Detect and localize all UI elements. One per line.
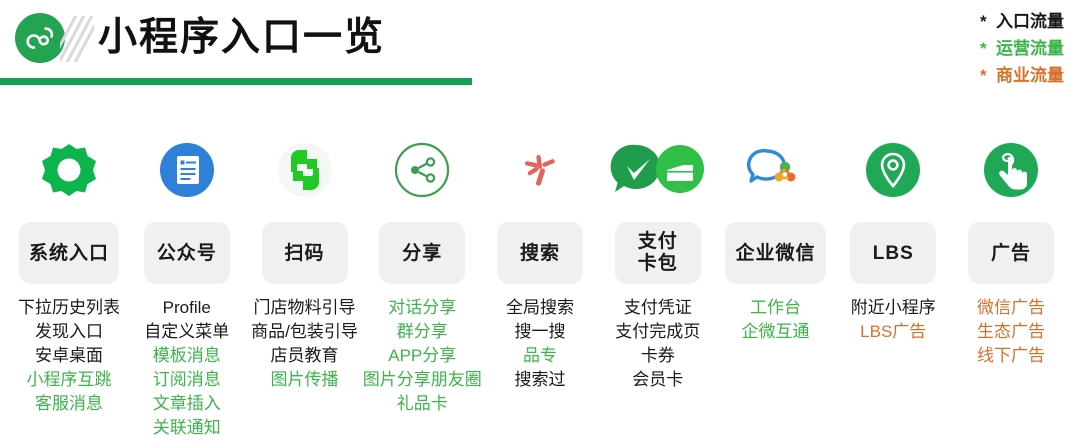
list-item: 店员教育 xyxy=(251,344,358,368)
list-item: 品专 xyxy=(506,344,574,368)
column-label-chip-search[interactable]: 搜索 xyxy=(497,222,583,284)
title-underline-rule xyxy=(0,78,472,85)
list-item: 微信广告 xyxy=(977,296,1045,320)
list-item: 图片传播 xyxy=(251,368,358,392)
list-item: 线下广告 xyxy=(977,344,1045,368)
article-document-icon xyxy=(132,132,242,208)
list-item: 全局搜索 xyxy=(506,296,574,320)
list-item: 卡券 xyxy=(615,344,700,368)
list-item: 支付完成页 xyxy=(615,320,700,344)
list-item: APP分享 xyxy=(363,344,482,368)
list-item: 订阅消息 xyxy=(144,368,229,392)
entry-column-wecom: 企业微信工作台企微互通 xyxy=(721,132,831,440)
column-item-list-wecom: 工作台企微互通 xyxy=(742,296,810,344)
legend-item-business: * 商业流量 xyxy=(980,62,1064,89)
list-item: 工作台 xyxy=(742,296,810,320)
entry-column-lbs: LBS附近小程序LBS广告 xyxy=(838,132,948,440)
list-item: 模板消息 xyxy=(144,344,229,368)
list-item: LBS广告 xyxy=(851,320,936,344)
scan-code-icon xyxy=(250,132,360,208)
wechat-pay-wallet-icon xyxy=(603,132,713,208)
column-label-chip-system-entry[interactable]: 系统入口 xyxy=(19,222,119,284)
column-label-chip-scan-code[interactable]: 扫码 xyxy=(262,222,348,284)
legend-item-entry: * 入口流量 xyxy=(980,8,1064,35)
entry-column-share: 分享对话分享群分享APP分享图片分享朋友圈礼品卡 xyxy=(367,132,477,440)
list-item: 支付凭证 xyxy=(615,296,700,320)
column-label-chip-lbs[interactable]: LBS xyxy=(850,222,936,284)
list-item: 企微互通 xyxy=(742,320,810,344)
column-label-chip-official-account[interactable]: 公众号 xyxy=(144,222,230,284)
column-label-chip-advertising[interactable]: 广告 xyxy=(968,222,1054,284)
list-item: 附近小程序 xyxy=(851,296,936,320)
share-icon xyxy=(367,132,477,208)
list-item: 自定义菜单 xyxy=(144,320,229,344)
column-label-line: 卡包 xyxy=(638,253,678,275)
list-item: 门店物料引导 xyxy=(251,296,358,320)
legend-marker-business: * xyxy=(980,62,996,89)
entry-column-advertising: 广告微信广告生态广告线下广告 xyxy=(956,132,1066,440)
list-item: 下拉历史列表 xyxy=(18,296,120,320)
list-item: 搜一搜 xyxy=(506,320,574,344)
column-label-line: LBS xyxy=(873,242,914,265)
brand-block: 小程序入口一览 xyxy=(14,12,385,64)
decorative-stripes xyxy=(60,16,94,62)
list-item: 生态广告 xyxy=(977,320,1045,344)
list-item: 小程序互跳 xyxy=(18,368,120,392)
entry-column-pay-card-pack: 支付卡包支付凭证支付完成页卡券会员卡 xyxy=(603,132,713,440)
wechat-miniprogram-logo-icon xyxy=(14,12,66,64)
page-title: 小程序入口一览 xyxy=(98,12,385,64)
wecom-icon xyxy=(721,132,831,208)
legend-item-operation: * 运营流量 xyxy=(980,35,1064,62)
column-item-list-share: 对话分享群分享APP分享图片分享朋友圈礼品卡 xyxy=(363,296,482,416)
list-item: 文章插入 xyxy=(144,392,229,416)
list-item: 会员卡 xyxy=(615,368,700,392)
legend: * 入口流量 * 运营流量 * 商业流量 xyxy=(980,8,1064,89)
list-item: 商品/包装引导 xyxy=(251,320,358,344)
list-item: Profile xyxy=(144,296,229,320)
legend-marker-entry: * xyxy=(980,8,996,35)
column-label-chip-pay-card-pack[interactable]: 支付卡包 xyxy=(615,222,701,284)
list-item: 客服消息 xyxy=(18,392,120,416)
list-item: 图片分享朋友圈 xyxy=(363,368,482,392)
column-item-list-advertising: 微信广告生态广告线下广告 xyxy=(977,296,1045,368)
column-label-line: 企业微信 xyxy=(735,242,815,265)
column-item-list-system-entry: 下拉历史列表发现入口安卓桌面小程序互跳客服消息 xyxy=(18,296,120,416)
list-item: 发现入口 xyxy=(18,320,120,344)
column-label-line: 分享 xyxy=(402,242,442,265)
entry-column-scan-code: 扫码门店物料引导商品/包装引导店员教育图片传播 xyxy=(250,132,360,440)
list-item: 对话分享 xyxy=(363,296,482,320)
column-label-line: 公众号 xyxy=(157,242,217,265)
column-item-list-official-account: Profile自定义菜单模板消息订阅消息文章插入关联通知 xyxy=(144,296,229,440)
entry-column-official-account: 公众号Profile自定义菜单模板消息订阅消息文章插入关联通知 xyxy=(132,132,242,440)
location-pin-icon xyxy=(838,132,948,208)
legend-marker-operation: * xyxy=(980,35,996,62)
column-item-list-lbs: 附近小程序LBS广告 xyxy=(851,296,936,344)
search-sparkle-icon xyxy=(485,132,595,208)
entry-column-system-entry: 系统入口下拉历史列表发现入口安卓桌面小程序互跳客服消息 xyxy=(14,132,124,440)
column-label-line: 系统入口 xyxy=(29,242,109,265)
list-item: 群分享 xyxy=(363,320,482,344)
column-label-line: 搜索 xyxy=(520,242,560,265)
column-item-list-pay-card-pack: 支付凭证支付完成页卡券会员卡 xyxy=(615,296,700,392)
column-item-list-search: 全局搜索搜一搜品专搜索过 xyxy=(506,296,574,392)
list-item: 安卓桌面 xyxy=(18,344,120,368)
column-label-chip-wecom[interactable]: 企业微信 xyxy=(725,222,825,284)
gear-icon xyxy=(14,132,124,208)
column-label-line: 支付 xyxy=(638,231,678,253)
legend-label-business: 商业流量 xyxy=(996,62,1064,89)
tap-hand-icon xyxy=(956,132,1066,208)
column-item-list-scan-code: 门店物料引导商品/包装引导店员教育图片传播 xyxy=(251,296,358,392)
list-item: 搜索过 xyxy=(506,368,574,392)
column-label-chip-share[interactable]: 分享 xyxy=(379,222,465,284)
list-item: 礼品卡 xyxy=(363,392,482,416)
list-item: 关联通知 xyxy=(144,416,229,440)
entry-columns-grid: 系统入口下拉历史列表发现入口安卓桌面小程序互跳客服消息 公众号Profile自定… xyxy=(0,132,1080,440)
column-label-line: 扫码 xyxy=(284,242,324,265)
legend-label-operation: 运营流量 xyxy=(996,35,1064,62)
column-label-line: 广告 xyxy=(991,242,1031,265)
page-header: 小程序入口一览 * 入口流量 * 运营流量 * 商业流量 xyxy=(0,0,1080,100)
entry-column-search: 搜索全局搜索搜一搜品专搜索过 xyxy=(485,132,595,440)
legend-label-entry: 入口流量 xyxy=(996,8,1064,35)
